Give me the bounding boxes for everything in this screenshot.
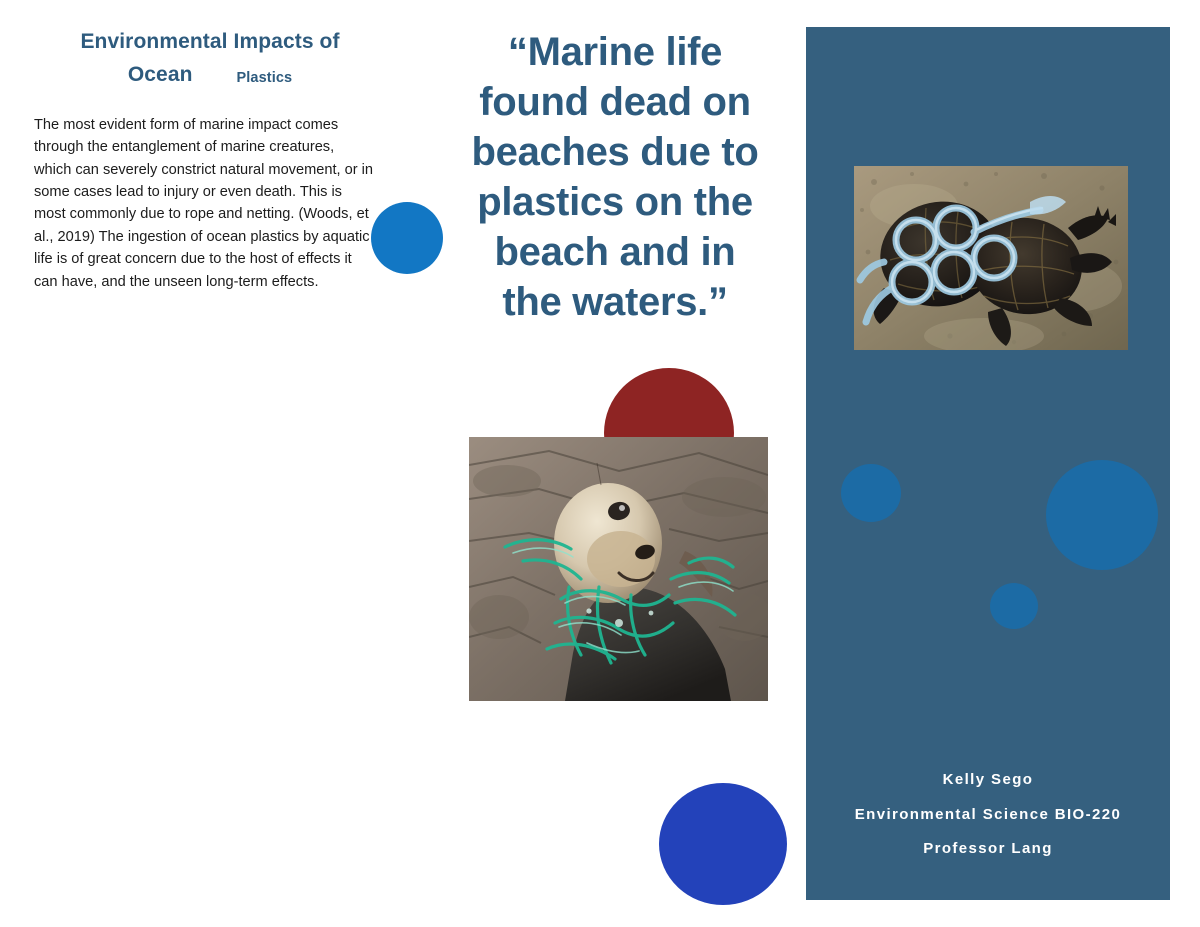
- author-name: Kelly Sego: [806, 769, 1170, 792]
- decorative-circle-panel-small-bottom: [990, 583, 1038, 629]
- body-paragraph: The most evident form of marine impact c…: [34, 114, 374, 294]
- author-credits: Kelly Sego Environmental Science BIO-220…: [806, 769, 1170, 861]
- photo-seal-entangled-in-net: [469, 437, 768, 701]
- page-title-main: Environmental Impacts of Ocean: [80, 30, 339, 86]
- left-column: Environmental Impacts of OceanPlastics T…: [0, 0, 420, 927]
- page-title: Environmental Impacts of OceanPlastics: [30, 26, 390, 91]
- decorative-circle-panel-small-top: [841, 464, 901, 522]
- author-course: Environmental Science BIO-220: [806, 804, 1170, 827]
- pull-quote: “Marine life found dead on beaches due t…: [460, 27, 770, 327]
- page-title-small: Plastics: [237, 70, 293, 86]
- decorative-circle-panel-large: [1046, 460, 1158, 570]
- author-professor: Professor Lang: [806, 838, 1170, 861]
- photo-turtle-in-plastic-rings: [854, 166, 1128, 350]
- right-sidebar-panel: Kelly Sego Environmental Science BIO-220…: [806, 27, 1170, 900]
